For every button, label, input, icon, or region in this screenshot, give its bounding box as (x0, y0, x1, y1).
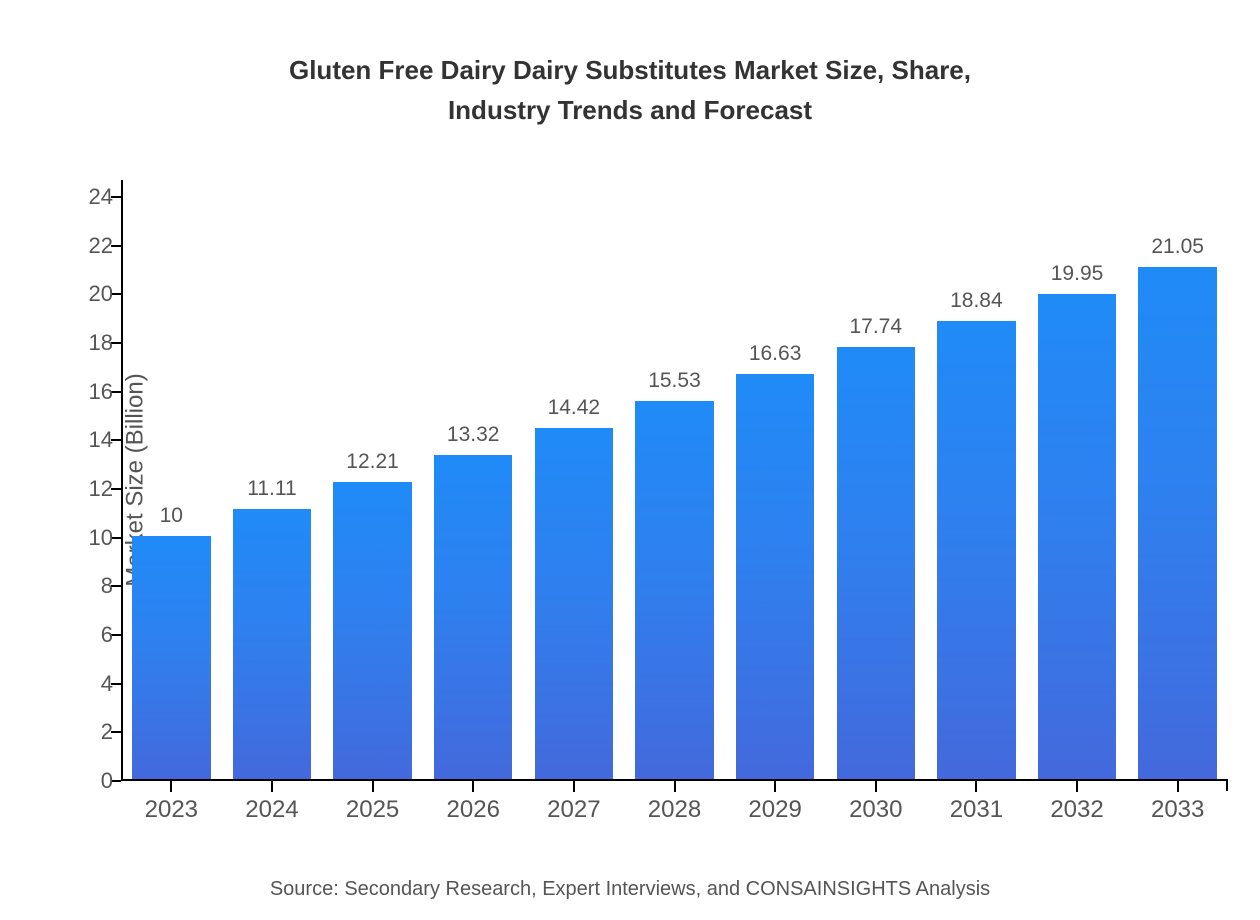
bar-value-label: 18.84 (950, 290, 1003, 311)
x-tick-mark (674, 781, 676, 792)
y-tick-label: 20 (89, 283, 113, 305)
bar-value-label: 21.05 (1151, 236, 1204, 257)
x-tick-label: 2027 (547, 798, 600, 822)
bar[interactable] (1138, 267, 1216, 779)
bar[interactable] (434, 455, 512, 779)
bar[interactable] (736, 374, 814, 779)
y-tick-label: 10 (89, 527, 113, 549)
bar-group[interactable]: 18.84 (937, 180, 1015, 781)
bar-value-label: 11.11 (247, 478, 296, 499)
bar[interactable] (937, 321, 1015, 779)
y-tick-label: 6 (101, 624, 113, 646)
x-tick-label: 2025 (346, 798, 399, 822)
x-tick-label: 2030 (849, 798, 902, 822)
bar-value-label: 10 (160, 505, 183, 526)
bar-group[interactable]: 13.32 (434, 180, 512, 781)
x-tick-mark (170, 781, 172, 792)
y-tick-label: 12 (89, 478, 113, 500)
x-tick-mark (975, 781, 977, 792)
y-tick-label: 16 (89, 381, 113, 403)
x-tick-label: 2029 (748, 798, 801, 822)
page-title: Gluten Free Dairy Dairy Substitutes Mark… (0, 50, 1260, 130)
bar-group[interactable]: 15.53 (635, 180, 713, 781)
source-note: Source: Secondary Research, Expert Inter… (0, 878, 1260, 901)
x-tick-label: 2031 (950, 798, 1003, 822)
bar-group[interactable]: 10 (132, 180, 210, 781)
y-tick-label: 22 (89, 235, 113, 257)
x-tick-label: 2028 (648, 798, 701, 822)
x-tick-mark (372, 781, 374, 792)
bar-value-label: 13.32 (447, 424, 500, 445)
chart-plot-area: Market Size (Billion) 024681012141618202… (121, 180, 1228, 781)
y-tick-label: 24 (89, 186, 113, 208)
x-tick-label: 2024 (245, 798, 298, 822)
y-tick-label: 2 (101, 721, 113, 743)
bar-group[interactable]: 16.63 (736, 180, 814, 781)
bar[interactable] (1038, 294, 1116, 779)
bar-group[interactable]: 11.11 (233, 180, 311, 781)
bar-group[interactable]: 21.05 (1138, 180, 1216, 781)
x-tick-label: 2023 (145, 798, 198, 822)
x-tick-mark (1177, 781, 1179, 792)
bar-group[interactable]: 14.42 (535, 180, 613, 781)
bar-group[interactable]: 17.74 (837, 180, 915, 781)
bar[interactable] (635, 401, 713, 779)
x-tick-mark (472, 781, 474, 792)
bar-value-label: 12.21 (346, 451, 399, 472)
bar-value-label: 15.53 (648, 370, 701, 391)
bar-value-label: 14.42 (548, 397, 601, 418)
bar-group[interactable]: 12.21 (333, 180, 411, 781)
y-tick-label: 8 (101, 575, 113, 597)
bar[interactable] (233, 509, 311, 779)
bar-value-label: 16.63 (749, 343, 802, 364)
bar[interactable] (837, 347, 915, 779)
bar-value-label: 19.95 (1051, 263, 1104, 284)
y-tick-label: 14 (89, 429, 113, 451)
x-tick-mark (774, 781, 776, 792)
bar[interactable] (535, 428, 613, 779)
x-tick-mark (875, 781, 877, 792)
x-tick-mark (271, 781, 273, 792)
y-tick-label: 0 (101, 770, 113, 792)
x-tick-label: 2026 (447, 798, 500, 822)
bar-group[interactable]: 19.95 (1038, 180, 1116, 781)
x-tick-label: 2033 (1151, 798, 1204, 822)
bar[interactable] (132, 536, 210, 779)
x-axis-end-cap (1226, 779, 1228, 791)
bar[interactable] (333, 482, 411, 779)
x-tick-mark (573, 781, 575, 792)
bar-value-label: 17.74 (849, 316, 902, 337)
y-tick-label: 18 (89, 332, 113, 354)
x-tick-label: 2032 (1050, 798, 1103, 822)
y-tick-label: 4 (101, 673, 113, 695)
x-tick-mark (1076, 781, 1078, 792)
